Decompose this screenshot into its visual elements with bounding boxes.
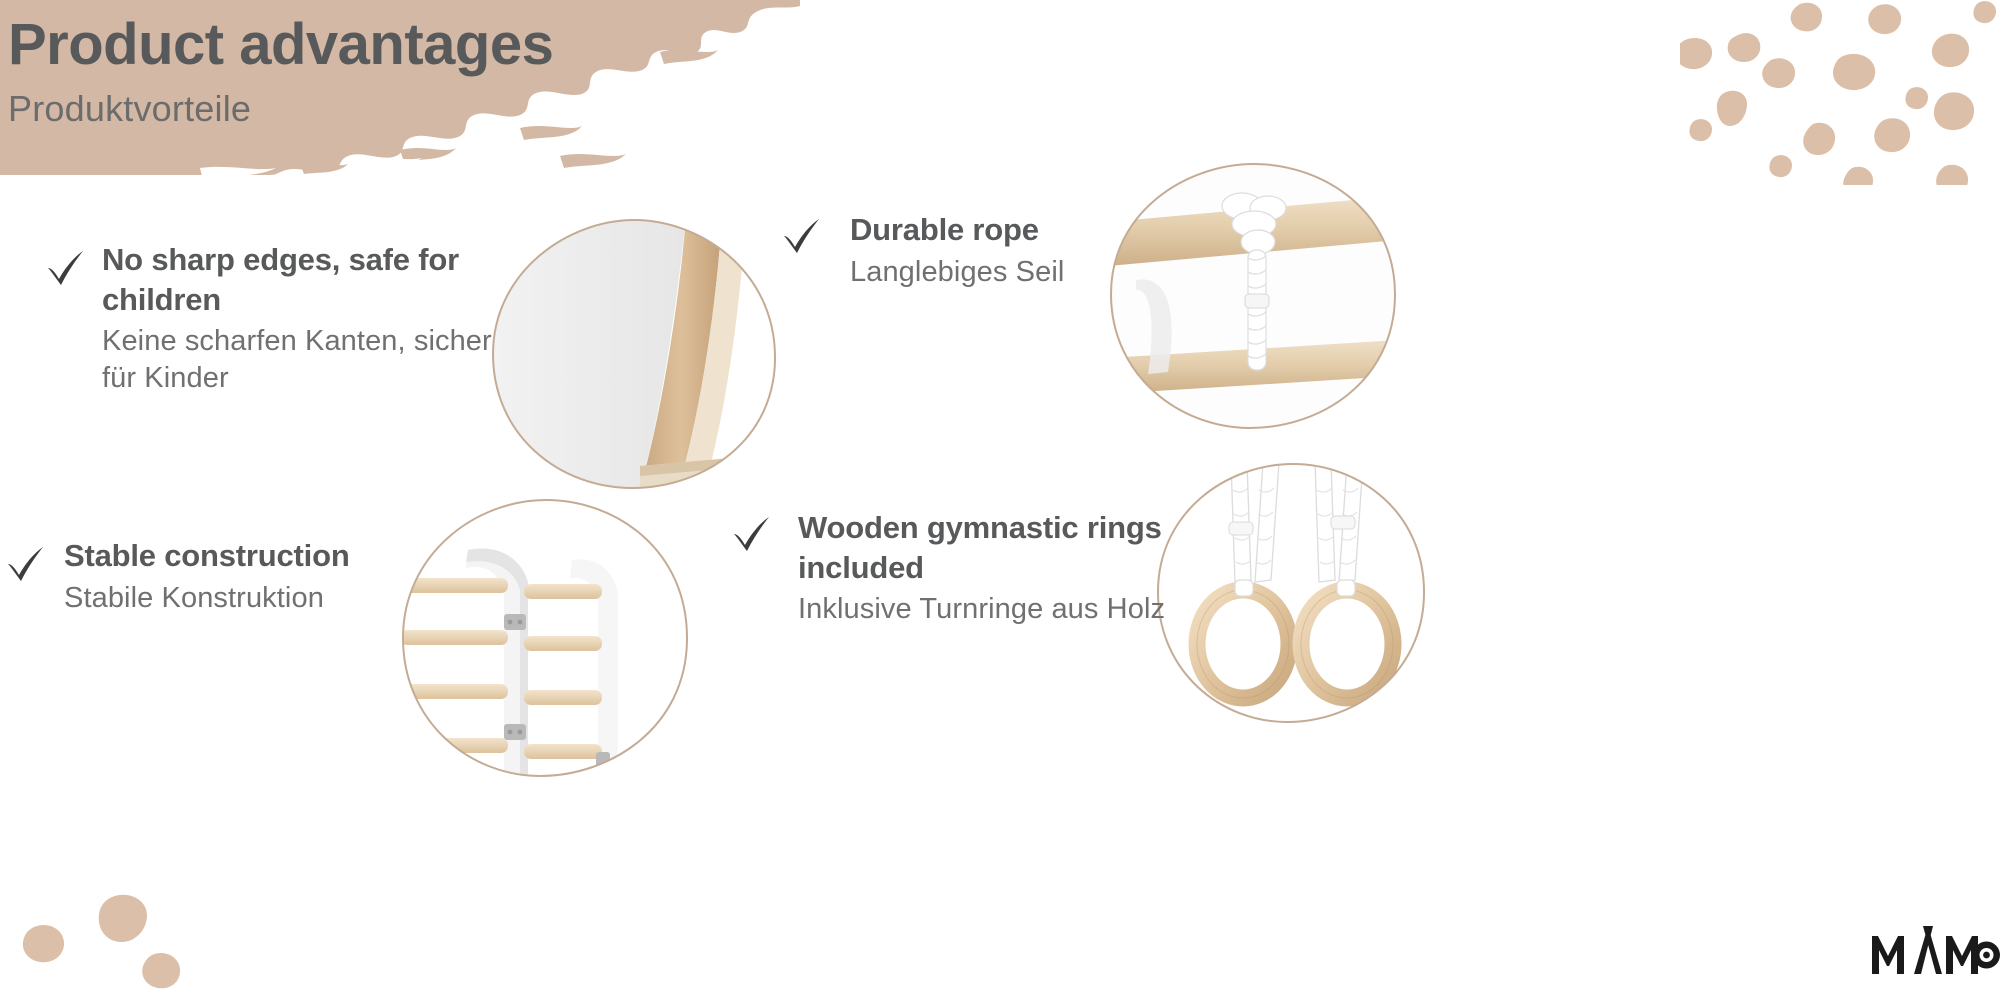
feature-subheading: Inklusive Turnringe aus Holz [798, 591, 1168, 627]
feature-text-group: Wooden gymnastic rings included Inklusiv… [780, 508, 1168, 628]
page-title: Product advantages [8, 14, 708, 77]
feature-gymnastic-rings: Wooden gymnastic rings included Inklusiv… [728, 508, 1168, 628]
infographic-canvas: Product advantages Produktvorteile [0, 0, 2000, 1000]
feature-durable-rope: Durable rope Langlebiges Seil [778, 210, 1108, 290]
feature-heading: No sharp edges, safe for children [102, 240, 512, 319]
blob-cluster-top-right [1680, 0, 2000, 185]
blob-cluster-bottom-left [0, 885, 220, 1000]
page-subtitle: Produktvorteile [8, 87, 708, 130]
feature-subheading: Keine scharfen Kanten, sicher für Kinder [102, 323, 512, 396]
header-text-group: Product advantages Produktvorteile [8, 14, 708, 130]
photo-rope-knot [1108, 162, 1398, 430]
mamoi-wordmark-logo [1872, 920, 2000, 978]
feature-heading: Durable rope [850, 210, 1064, 250]
feature-subheading: Stabile Konstruktion [64, 580, 350, 616]
feature-text-group: No sharp edges, safe for children Keine … [94, 240, 512, 396]
photo-gymnastic-rings [1155, 462, 1427, 724]
feature-heading: Stable construction [64, 536, 350, 576]
feature-subheading: Langlebiges Seil [850, 254, 1064, 290]
feature-heading: Wooden gymnastic rings included [798, 508, 1168, 587]
checkmark-icon [42, 244, 88, 290]
feature-no-sharp-edges: No sharp edges, safe for children Keine … [42, 240, 512, 396]
photo-rounded-edge-panel [490, 218, 778, 490]
feature-stable-construction: Stable construction Stabile Konstruktion [2, 536, 432, 616]
feature-text-group: Durable rope Langlebiges Seil [830, 210, 1064, 290]
feature-text-group: Stable construction Stabile Konstruktion [54, 536, 350, 616]
photo-wall-ladder [400, 498, 690, 778]
checkmark-icon [2, 540, 48, 586]
checkmark-icon [728, 510, 774, 556]
checkmark-icon [778, 212, 824, 258]
